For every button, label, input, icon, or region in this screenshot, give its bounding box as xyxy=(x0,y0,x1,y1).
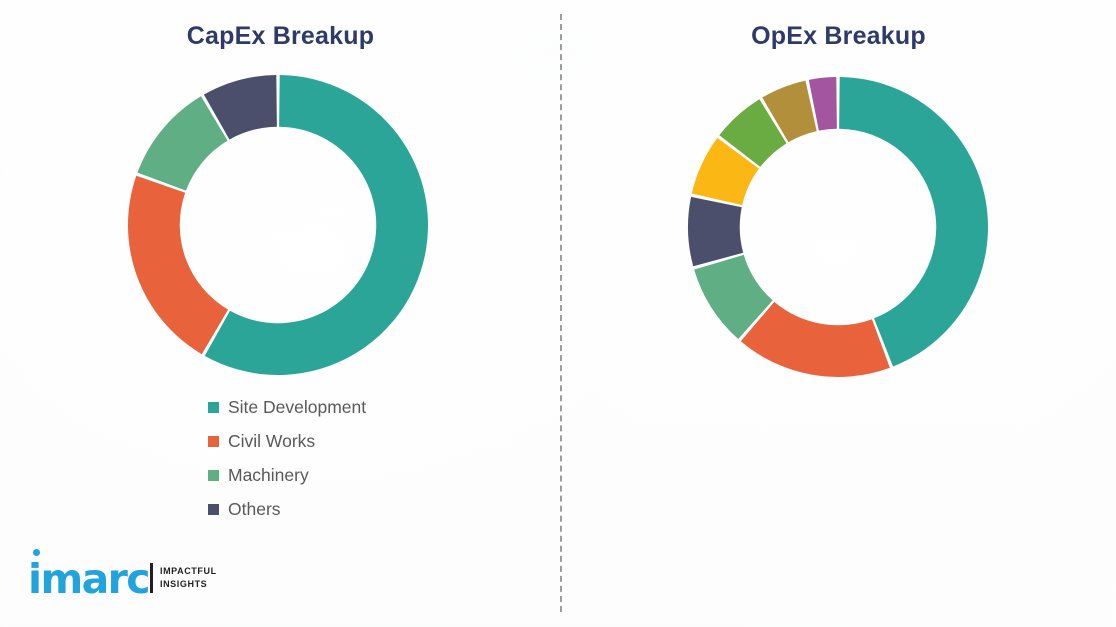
legend-item[interactable]: Civil Works xyxy=(208,424,366,458)
logo-tagline: IMPACTFUL INSIGHTS xyxy=(160,565,217,595)
capex-panel: CapEx Breakup Site DevelopmentCivil Work… xyxy=(0,0,561,627)
legend-item[interactable]: Others xyxy=(208,492,366,526)
logo-tagline-line2: INSIGHTS xyxy=(160,578,217,591)
donut-slice-civil-works[interactable] xyxy=(128,176,228,354)
logo-dot-icon xyxy=(33,549,40,556)
opex-donut-svg xyxy=(686,75,990,379)
capex-donut-chart xyxy=(126,73,430,377)
legend-label: Civil Works xyxy=(228,431,315,452)
legend-swatch-icon xyxy=(208,504,219,515)
legend-item[interactable]: Machinery xyxy=(208,458,366,492)
legend-swatch-icon xyxy=(208,436,219,447)
opex-donut-chart xyxy=(686,75,990,379)
logo-divider-bar xyxy=(150,563,153,593)
donut-slice-salaries-and-wages[interactable] xyxy=(741,302,890,377)
capex-legend: Site DevelopmentCivil WorksMachineryOthe… xyxy=(208,390,366,526)
logo-tagline-line1: IMPACTFUL xyxy=(160,565,217,578)
legend-label: Site Development xyxy=(228,397,366,418)
capex-donut-svg xyxy=(126,73,430,377)
slide-canvas: CapEx Breakup Site DevelopmentCivil Work… xyxy=(0,0,1116,627)
logo-mark: imarc xyxy=(28,562,149,597)
donut-slice-utility[interactable] xyxy=(688,197,743,266)
legend-item[interactable]: Site Development xyxy=(208,390,366,424)
legend-label: Machinery xyxy=(228,465,309,486)
legend-swatch-icon xyxy=(208,402,219,413)
capex-chart-title: CapEx Breakup xyxy=(0,22,561,51)
logo-wordmark: imarc xyxy=(28,562,149,597)
opex-panel: OpEx Breakup Raw MaterialsSalaries and W… xyxy=(561,0,1116,627)
opex-chart-title: OpEx Breakup xyxy=(561,22,1116,51)
legend-swatch-icon xyxy=(208,470,219,481)
legend-label: Others xyxy=(228,499,281,520)
imarc-logo: imarc IMPACTFUL INSIGHTS xyxy=(28,562,217,597)
